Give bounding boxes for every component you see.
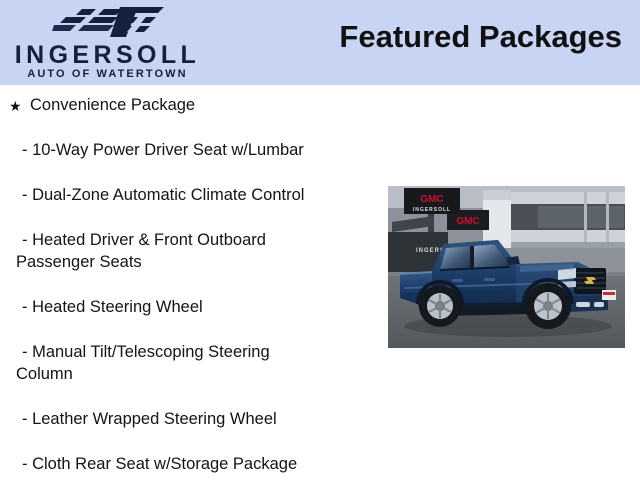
list-item: - Dual-Zone Automatic Climate Control	[0, 184, 372, 206]
brand-logo: INGERSOLL AUTO OF WATERTOWN	[0, 2, 215, 84]
feature-text: - Cloth Rear Seat w/Storage Package	[22, 455, 297, 473]
feature-text: - Heated Driver & Front Outboard	[22, 229, 372, 251]
feature-text: - 10-Way Power Driver Seat w/Lumbar	[22, 141, 304, 159]
list-item: - Heated Driver & Front Outboard Passeng…	[0, 229, 372, 273]
vehicle-photo: GMC GMC INGERSOLL INGERSO	[388, 186, 625, 348]
feature-text-continued: Passenger Seats	[16, 251, 372, 273]
svg-text:GMC: GMC	[420, 194, 443, 205]
brand-tagline: AUTO OF WATERTOWN	[0, 68, 215, 81]
main-content: ★ Convenience Package - 10-Way Power Dri…	[0, 85, 640, 480]
feature-text: - Heated Steering Wheel	[22, 298, 203, 316]
feature-text-continued: Column	[16, 363, 372, 385]
list-item: - Heated Steering Wheel	[0, 296, 372, 318]
svg-text:INGERSOLL: INGERSOLL	[413, 207, 451, 213]
page-title: Featured Packages	[339, 19, 622, 55]
list-item: - Leather Wrapped Steering Wheel	[0, 408, 372, 430]
brand-name: INGERSOLL	[0, 42, 215, 68]
list-item: - Manual Tilt/Telescoping Steering Colum…	[0, 341, 372, 385]
feature-text: - Dual-Zone Automatic Climate Control	[22, 186, 304, 204]
feature-text: - Manual Tilt/Telescoping Steering	[22, 341, 372, 363]
list-item: - Cloth Rear Seat w/Storage Package	[0, 453, 372, 475]
star-icon: ★	[9, 95, 22, 117]
package-title-row: ★ Convenience Package	[0, 94, 380, 116]
package-title: Convenience Package	[30, 96, 195, 114]
package-feature-list: ★ Convenience Package - 10-Way Power Dri…	[0, 85, 380, 475]
feature-text: - Leather Wrapped Steering Wheel	[22, 410, 277, 428]
page-header: INGERSOLL AUTO OF WATERTOWN Featured Pac…	[0, 0, 640, 85]
svg-text:GMC: GMC	[456, 216, 479, 227]
ingersoll-winged-emblem-icon	[52, 6, 164, 40]
list-item: - 10-Way Power Driver Seat w/Lumbar	[0, 139, 372, 161]
